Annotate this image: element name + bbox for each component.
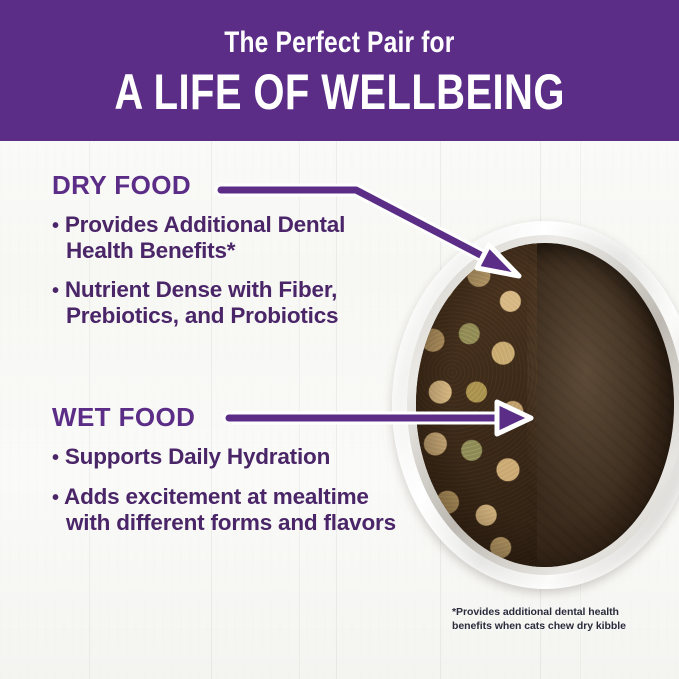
footnote-disclaimer: *Provides additional dental health benef… bbox=[452, 606, 657, 634]
dry-food-section: DRY FOOD • Provides Additional Dental He… bbox=[52, 172, 402, 329]
bullet-glyph: • bbox=[52, 447, 59, 469]
dry-kibble-region bbox=[416, 243, 537, 567]
header-banner: The Perfect Pair for A LIFE OF WELLBEING bbox=[0, 0, 679, 141]
wet-food-region bbox=[527, 243, 674, 567]
wet-food-bullet-list: • Supports Daily Hydration • Adds excite… bbox=[52, 444, 402, 535]
banner-subtitle: The Perfect Pair for bbox=[224, 28, 454, 58]
bowl-food-area bbox=[416, 243, 674, 567]
wet-food-section: WET FOOD • Supports Daily Hydration • Ad… bbox=[52, 404, 402, 535]
list-item-text: Adds excitement at mealtime with differe… bbox=[64, 484, 396, 535]
banner-title: A LIFE OF WELLBEING bbox=[114, 67, 565, 117]
dry-food-bullet-list: • Provides Additional Dental Health Bene… bbox=[52, 212, 402, 329]
bullet-glyph: • bbox=[52, 280, 59, 302]
list-item: • Supports Daily Hydration bbox=[52, 444, 402, 470]
bullet-glyph: • bbox=[52, 215, 59, 237]
list-item-text: Provides Additional Dental Health Benefi… bbox=[65, 212, 345, 263]
wet-food-heading: WET FOOD bbox=[52, 404, 402, 430]
list-item: • Provides Additional Dental Health Bene… bbox=[52, 212, 402, 263]
list-item-text: Nutrient Dense with Fiber, Prebiotics, a… bbox=[65, 277, 338, 328]
list-item: • Adds excitement at mealtime with diffe… bbox=[52, 484, 402, 535]
dry-food-heading: DRY FOOD bbox=[52, 172, 402, 198]
cat-food-bowl-photo bbox=[380, 215, 679, 595]
infographic-canvas: The Perfect Pair for A LIFE OF WELLBEING… bbox=[0, 0, 679, 679]
bullet-glyph: • bbox=[52, 487, 59, 509]
list-item: • Nutrient Dense with Fiber, Prebiotics,… bbox=[52, 277, 402, 328]
list-item-text: Supports Daily Hydration bbox=[65, 444, 330, 469]
